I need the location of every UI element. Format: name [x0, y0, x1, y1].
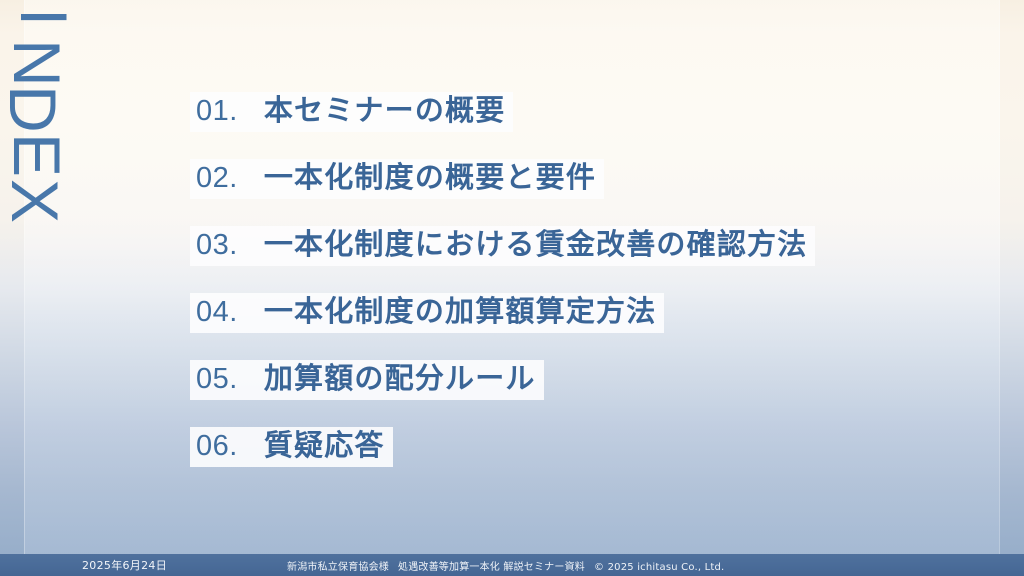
footer-copyright: © 2025 ichitasu Co., Ltd.: [594, 562, 724, 573]
index-item-number: 06.: [196, 432, 238, 461]
index-item-number: 05.: [196, 365, 238, 394]
index-letter-5: X: [9, 179, 55, 223]
index-letter-4: E: [11, 133, 57, 177]
footer-date: 2025年6月24日: [82, 557, 167, 573]
index-item-inner: 01. 本セミナーの概要: [190, 92, 513, 132]
index-list: 01. 本セミナーの概要 02. 一本化制度の概要と要件 03. 一本化制度にお…: [190, 92, 990, 473]
index-item[interactable]: 01. 本セミナーの概要: [190, 92, 990, 138]
index-item-inner: 05. 加算額の配分ルール: [190, 360, 544, 400]
index-letter-2: N: [11, 39, 57, 87]
index-letter-1: I: [18, 8, 64, 26]
index-item-label: 一本化制度における賃金改善の確認方法: [264, 230, 808, 259]
index-item-number: 03.: [196, 231, 238, 260]
index-item-label: 質疑応答: [264, 431, 385, 460]
index-item[interactable]: 06. 質疑応答: [190, 427, 990, 473]
index-item-label: 一本化制度の概要と要件: [264, 163, 596, 192]
footer-client: 新潟市私立保育協会様: [287, 562, 389, 573]
footer-document-title: 処遇改善等加算一本化 解説セミナー資料: [398, 562, 585, 573]
index-item-label: 本セミナーの概要: [264, 96, 506, 125]
index-item-number: 02.: [196, 164, 238, 193]
index-item-inner: 03. 一本化制度における賃金改善の確認方法: [190, 226, 815, 266]
index-item[interactable]: 05. 加算額の配分ルール: [190, 360, 990, 406]
footer-credit: 新潟市私立保育協会様処遇改善等加算一本化 解説セミナー資料© 2025 ichi…: [287, 558, 724, 573]
footer-bar: 2025年6月24日 新潟市私立保育協会様処遇改善等加算一本化 解説セミナー資料…: [0, 554, 1024, 576]
index-item[interactable]: 02. 一本化制度の概要と要件: [190, 159, 990, 205]
slide-canvas: I N D E X 01. 本セミナーの概要 02. 一本化制度の概要と要件 0…: [0, 0, 1024, 576]
index-letter-3: D: [7, 85, 53, 133]
index-item-number: 04.: [196, 298, 238, 327]
index-item[interactable]: 03. 一本化制度における賃金改善の確認方法: [190, 226, 990, 272]
index-item-inner: 02. 一本化制度の概要と要件: [190, 159, 604, 199]
index-item-label: 加算額の配分ルール: [264, 364, 536, 393]
index-item-inner: 04. 一本化制度の加算額算定方法: [190, 293, 664, 333]
index-item[interactable]: 04. 一本化制度の加算額算定方法: [190, 293, 990, 339]
index-item-number: 01.: [196, 97, 238, 126]
index-heading: I N D E X: [2, 0, 98, 294]
index-item-label: 一本化制度の加算額算定方法: [264, 297, 657, 326]
index-item-inner: 06. 質疑応答: [190, 427, 393, 467]
